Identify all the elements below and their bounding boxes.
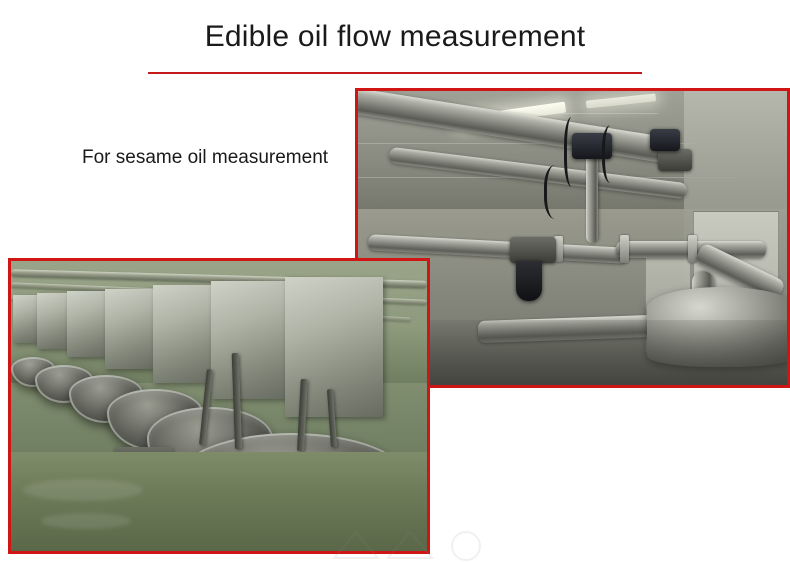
title-divider [148,72,642,74]
extraction-hood [37,293,69,349]
slide-page: Edible oil flow measurement For sesame o… [0,0,790,563]
valve-coil [650,129,680,151]
control-cable [602,125,623,183]
extraction-hood [153,285,215,383]
floor-reflection [41,513,131,529]
flow-meter-body [510,237,556,263]
control-cable [544,165,571,219]
page-title: Edible oil flow measurement [0,18,790,56]
extraction-hood [67,291,107,357]
extraction-hood [13,295,39,343]
extraction-hood [211,281,289,399]
valve-actuator [658,149,692,171]
floor-reflection [23,479,143,501]
extraction-hood [105,289,155,369]
riser-pipe [586,151,598,243]
sesame-woks-photo-inner [11,261,427,551]
sesame-woks-photo [8,258,430,554]
flow-sensor [516,261,542,301]
pipe-flange [620,235,629,263]
faint-watermark [330,528,510,562]
caption-text: For sesame oil measurement [82,145,332,170]
